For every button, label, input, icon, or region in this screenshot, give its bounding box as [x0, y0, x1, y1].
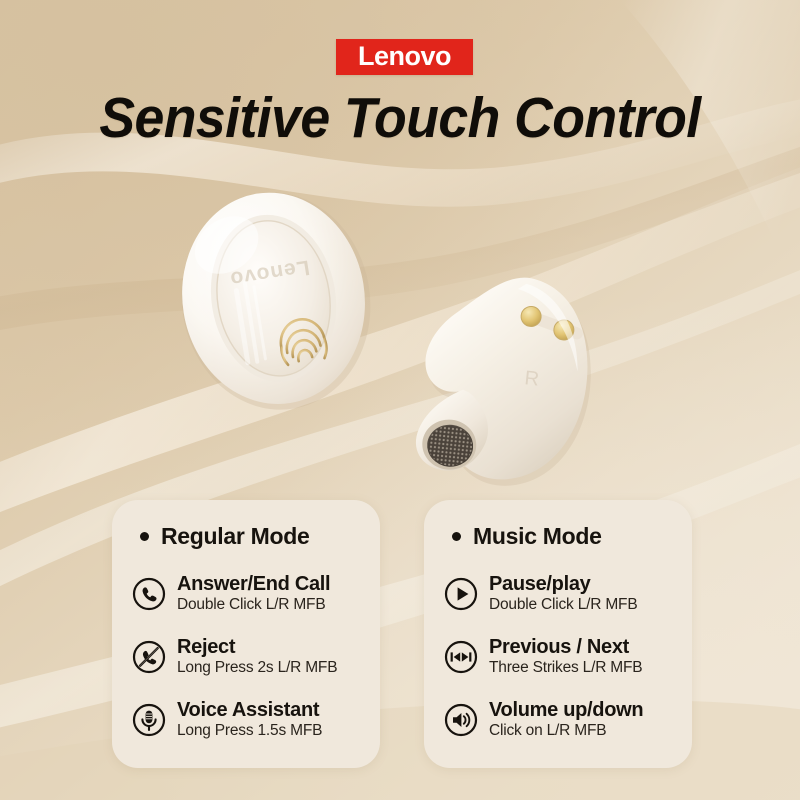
- mode-cards: Regular Mode Answer/End Call Double Clic…: [112, 500, 692, 768]
- phone-call-icon: [132, 577, 166, 611]
- volume-icon: [444, 703, 478, 737]
- card-title-music-label: Music Mode: [473, 523, 602, 550]
- list-item-text: Previous / Next Three Strikes L/R MFB: [489, 637, 642, 677]
- card-rows-regular: Answer/End Call Double Click L/R MFB Rej…: [112, 550, 380, 747]
- lenovo-logo-text: Lenovo: [358, 43, 451, 70]
- list-item-text: Pause/play Double Click L/R MFB: [489, 574, 637, 614]
- right-earbud-image: R: [397, 259, 612, 508]
- card-title-regular-label: Regular Mode: [161, 523, 309, 550]
- card-music-mode: Music Mode Pause/play Double Click L/R M…: [424, 500, 692, 768]
- list-item-title: Reject: [177, 637, 337, 659]
- card-regular-mode: Regular Mode Answer/End Call Double Clic…: [112, 500, 380, 768]
- card-title-music: Music Mode: [424, 500, 692, 550]
- page-title: Sensitive Touch Control: [24, 88, 776, 150]
- list-item-title: Previous / Next: [489, 637, 642, 659]
- list-item-text: Volume up/down Click on L/R MFB: [489, 700, 643, 740]
- list-item-title: Voice Assistant: [177, 700, 322, 722]
- list-item-title: Answer/End Call: [177, 574, 330, 596]
- list-item: Pause/play Double Click L/R MFB: [444, 567, 692, 621]
- list-item-text: Voice Assistant Long Press 1.5s MFB: [177, 700, 322, 740]
- lenovo-logo: Lenovo: [336, 39, 473, 75]
- phone-reject-icon: [132, 640, 166, 674]
- list-item: Answer/End Call Double Click L/R MFB: [132, 567, 380, 621]
- list-item: Volume up/down Click on L/R MFB: [444, 693, 692, 747]
- list-item-subtitle: Double Click L/R MFB: [489, 597, 637, 614]
- list-item: Reject Long Press 2s L/R MFB: [132, 630, 380, 684]
- previous-next-icon: [444, 640, 478, 674]
- list-item-subtitle: Long Press 1.5s MFB: [177, 723, 322, 740]
- list-item-subtitle: Three Strikes L/R MFB: [489, 660, 642, 677]
- play-icon: [444, 577, 478, 611]
- list-item-text: Answer/End Call Double Click L/R MFB: [177, 574, 330, 614]
- left-earbud-image: Lenovo: [162, 176, 390, 426]
- list-item-subtitle: Long Press 2s L/R MFB: [177, 660, 337, 677]
- list-item-subtitle: Double Click L/R MFB: [177, 597, 330, 614]
- list-item-title: Volume up/down: [489, 700, 643, 722]
- list-item-title: Pause/play: [489, 574, 637, 596]
- product-feature-banner: Lenovo Sensitive Touch Control: [0, 0, 800, 800]
- list-item-subtitle: Click on L/R MFB: [489, 723, 643, 740]
- channel-mark: R: [523, 367, 540, 390]
- list-item: Voice Assistant Long Press 1.5s MFB: [132, 693, 380, 747]
- list-item-text: Reject Long Press 2s L/R MFB: [177, 637, 337, 677]
- card-rows-music: Pause/play Double Click L/R MFB Previous…: [424, 550, 692, 747]
- card-title-regular: Regular Mode: [112, 500, 380, 550]
- list-item: Previous / Next Three Strikes L/R MFB: [444, 630, 692, 684]
- bullet-icon: [140, 532, 149, 541]
- microphone-icon: [132, 703, 166, 737]
- bullet-icon: [452, 532, 461, 541]
